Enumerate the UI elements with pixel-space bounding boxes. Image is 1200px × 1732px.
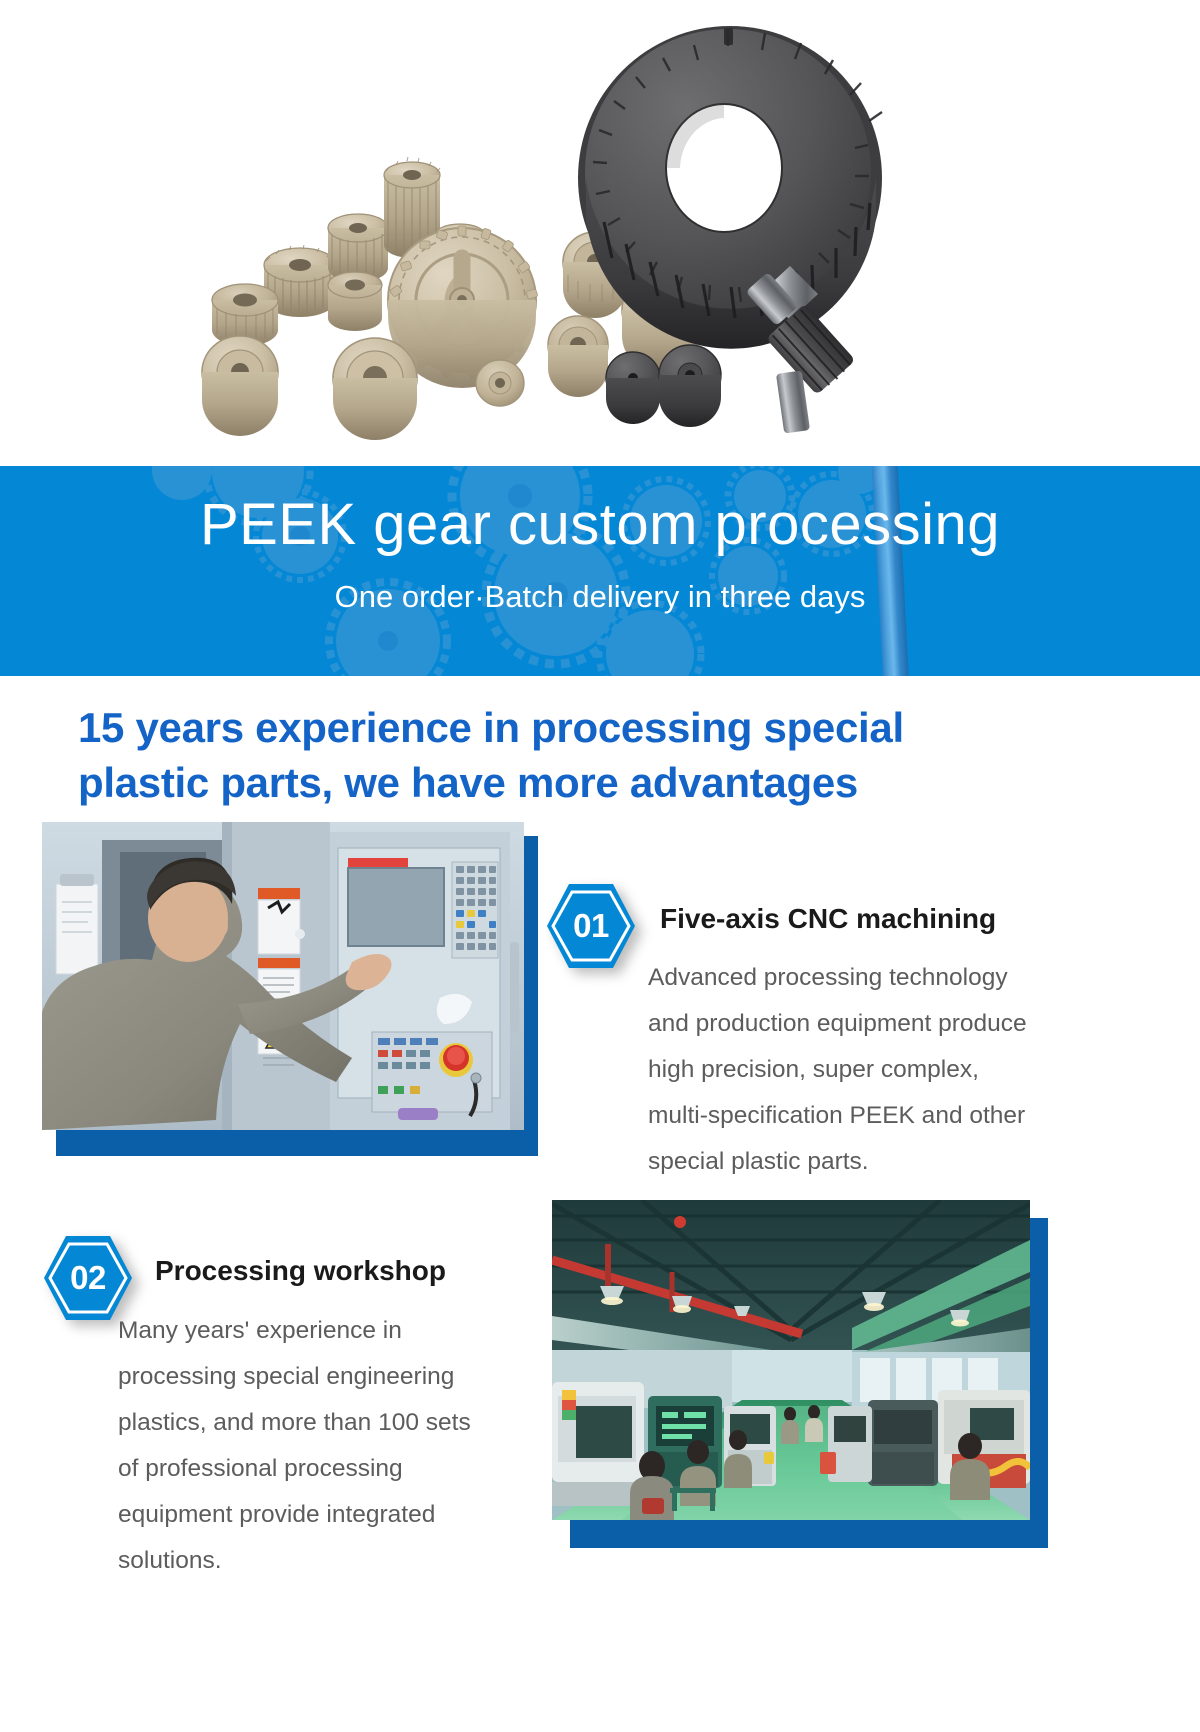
section-heading-line-2: plastic parts, we have more advantages bbox=[78, 755, 1088, 810]
section-heading-line-1: 15 years experience in processing specia… bbox=[78, 700, 1088, 755]
hero-banner: PEEK gear custom processing One order·Ba… bbox=[0, 466, 1200, 676]
cnc-machining-photo-frame bbox=[42, 822, 524, 1142]
page-title: 15 years experience in processing specia… bbox=[78, 700, 1088, 811]
card-02-body-line: solutions. bbox=[118, 1538, 538, 1584]
feature-card-02: 02 Processing workshop Many years' exper… bbox=[0, 0, 478, 330]
banner-subtitle: One order·Batch delivery in three days bbox=[0, 578, 1200, 615]
cnc-machining-photo bbox=[42, 822, 524, 1130]
card-01-body-line: and production equipment produce bbox=[648, 1001, 1100, 1047]
card-02-body-line: Many years' experience in bbox=[118, 1308, 538, 1354]
badge-01-number: 01 bbox=[545, 880, 637, 972]
card-01-body: Advanced processing technology and produ… bbox=[648, 955, 1100, 1185]
card-01-title: Five-axis CNC machining bbox=[660, 903, 996, 935]
workshop-photo-frame bbox=[552, 1200, 1030, 1530]
badge-01: 01 bbox=[545, 880, 637, 972]
card-02-body-line: processing special engineering bbox=[118, 1354, 538, 1400]
card-02-body-line: plastics, and more than 100 sets bbox=[118, 1400, 538, 1446]
workshop-photo bbox=[552, 1200, 1030, 1520]
card-02-body: Many years' experience in processing spe… bbox=[118, 1308, 538, 1584]
card-01-body-line: Advanced processing technology bbox=[648, 955, 1100, 1001]
card-01-body-line: multi-specification PEEK and other bbox=[648, 1093, 1100, 1139]
card-02-body-line: equipment provide integrated bbox=[118, 1492, 538, 1538]
card-01-body-line: special plastic parts. bbox=[648, 1139, 1100, 1185]
card-02-body-line: of professional processing bbox=[118, 1446, 538, 1492]
banner-title: PEEK gear custom processing bbox=[0, 492, 1200, 559]
card-02-title: Processing workshop bbox=[155, 1255, 446, 1287]
card-01-body-line: high precision, super complex, bbox=[648, 1047, 1100, 1093]
